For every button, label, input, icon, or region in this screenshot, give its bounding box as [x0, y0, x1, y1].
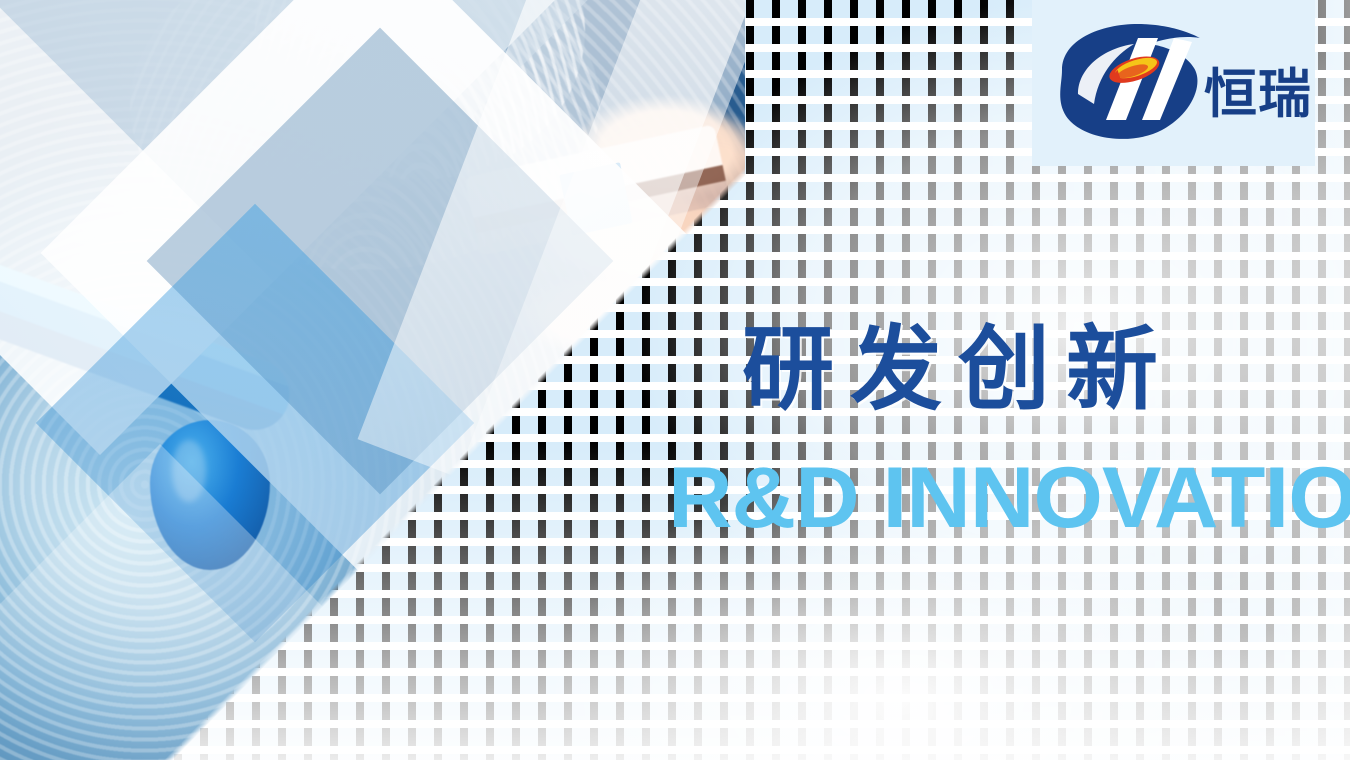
- lab-photo-montage: [0, 0, 745, 760]
- test-tube-blue-label: [559, 162, 633, 236]
- headline-chinese: 研发创新: [742, 322, 1174, 418]
- hengrui-oval-logo-icon: [1054, 22, 1204, 142]
- logo-brand-text: 恒瑞: [1204, 68, 1312, 121]
- logo-plate: 恒瑞: [1032, 0, 1315, 166]
- blue-capsule-rows-image: [386, 528, 745, 760]
- rd-innovation-banner: 恒瑞 研发创新 R&D INNOVATION: [0, 0, 1350, 760]
- headline-english: R&D INNOVATION: [668, 452, 1350, 544]
- droplet-highlight: [172, 440, 206, 502]
